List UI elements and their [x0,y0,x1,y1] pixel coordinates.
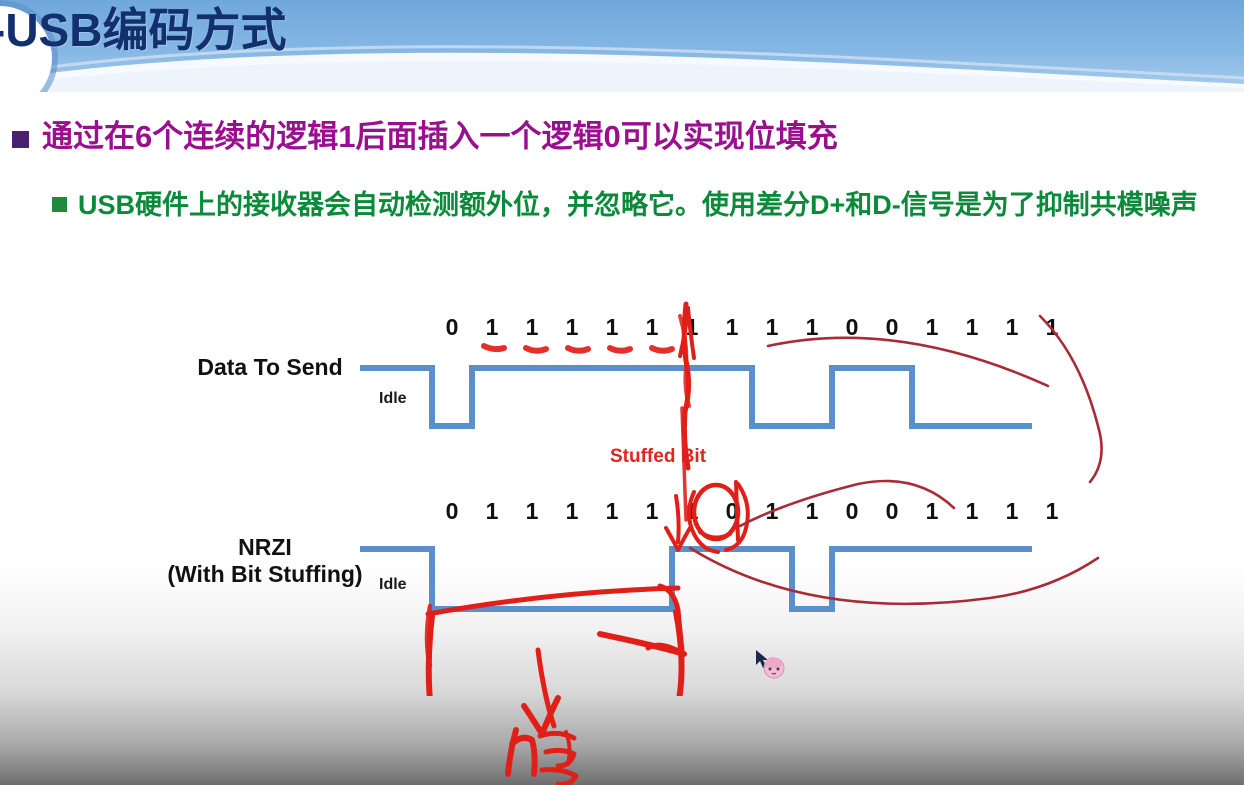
bit-data-9: 1 [792,314,832,344]
bit-data-14: 1 [992,314,1032,344]
bit-nrzi-6: 1 [672,498,712,528]
bit-nrzi-7: 0 [712,498,752,528]
bit-nrzi-15: 1 [1032,498,1072,528]
bit-nrzi-4: 1 [592,498,632,528]
bit-nrzi-14: 1 [992,498,1032,528]
bit-data-0: 0 [432,314,472,344]
bit-data-5: 1 [632,314,672,344]
data-to-send-trace [360,368,1032,426]
bit-data-13: 1 [952,314,992,344]
idle-label-top: Idle [379,390,407,408]
bit-data-10: 0 [832,314,872,344]
square-bullet-icon [12,131,29,148]
bit-row-data-to-send: 0111111111001111 [432,314,1072,344]
bit-nrzi-12: 1 [912,498,952,528]
idle-label-bottom: Idle [379,576,407,594]
slide-header-band: -USB编码方式 [0,0,1244,92]
page-title: -USB编码方式 [0,0,286,60]
bit-data-2: 1 [512,314,552,344]
bullet-item-secondary: USB硬件上的接收器会自动检测额外位，并忽略它。使用差分D+和D-信号是为了抑制… [52,186,1232,225]
bit-nrzi-3: 1 [552,498,592,528]
nrzi-label-line2: (With Bit Stuffing) [140,561,390,588]
nrzi-label-line1: NRZI [140,534,390,561]
usb-nrzi-waveform-diagram: Data To Send NRZI (With Bit Stuffing) Id… [0,296,1244,696]
nrzi-trace [360,549,1032,609]
slide-canvas: -USB编码方式 通过在6个连续的逻辑1后面插入一个逻辑0可以实现位填充 USB… [0,0,1244,785]
bit-data-6: 1 [672,314,712,344]
bit-data-12: 1 [912,314,952,344]
bit-data-8: 1 [752,314,792,344]
bit-nrzi-11: 0 [872,498,912,528]
bit-nrzi-0: 0 [432,498,472,528]
bit-row-nrzi: 0111111011001111 [432,498,1072,528]
bullet-secondary-text: USB硬件上的接收器会自动检测额外位，并忽略它。使用差分D+和D-信号是为了抑制… [78,186,1198,225]
stuffed-bit-annotation-label: Stuffed Bit [610,446,706,468]
bit-data-7: 1 [712,314,752,344]
bit-data-1: 1 [472,314,512,344]
square-bullet-icon [52,197,67,212]
bit-nrzi-2: 1 [512,498,552,528]
bit-data-15: 1 [1032,314,1072,344]
bit-nrzi-5: 1 [632,498,672,528]
data-to-send-label: Data To Send [180,354,360,381]
bullet-primary-text: 通过在6个连续的逻辑1后面插入一个逻辑0可以实现位填充 [42,118,838,156]
bit-nrzi-8: 1 [752,498,792,528]
bit-data-4: 1 [592,314,632,344]
nrzi-label: NRZI (With Bit Stuffing) [140,534,390,588]
bullet-item-primary: 通过在6个连续的逻辑1后面插入一个逻辑0可以实现位填充 [12,118,1212,156]
bit-nrzi-9: 1 [792,498,832,528]
anime-cursor-sticker-icon [752,648,786,682]
bit-nrzi-13: 1 [952,498,992,528]
bit-data-3: 1 [552,314,592,344]
bit-nrzi-10: 0 [832,498,872,528]
bit-data-11: 0 [872,314,912,344]
bit-nrzi-1: 1 [472,498,512,528]
